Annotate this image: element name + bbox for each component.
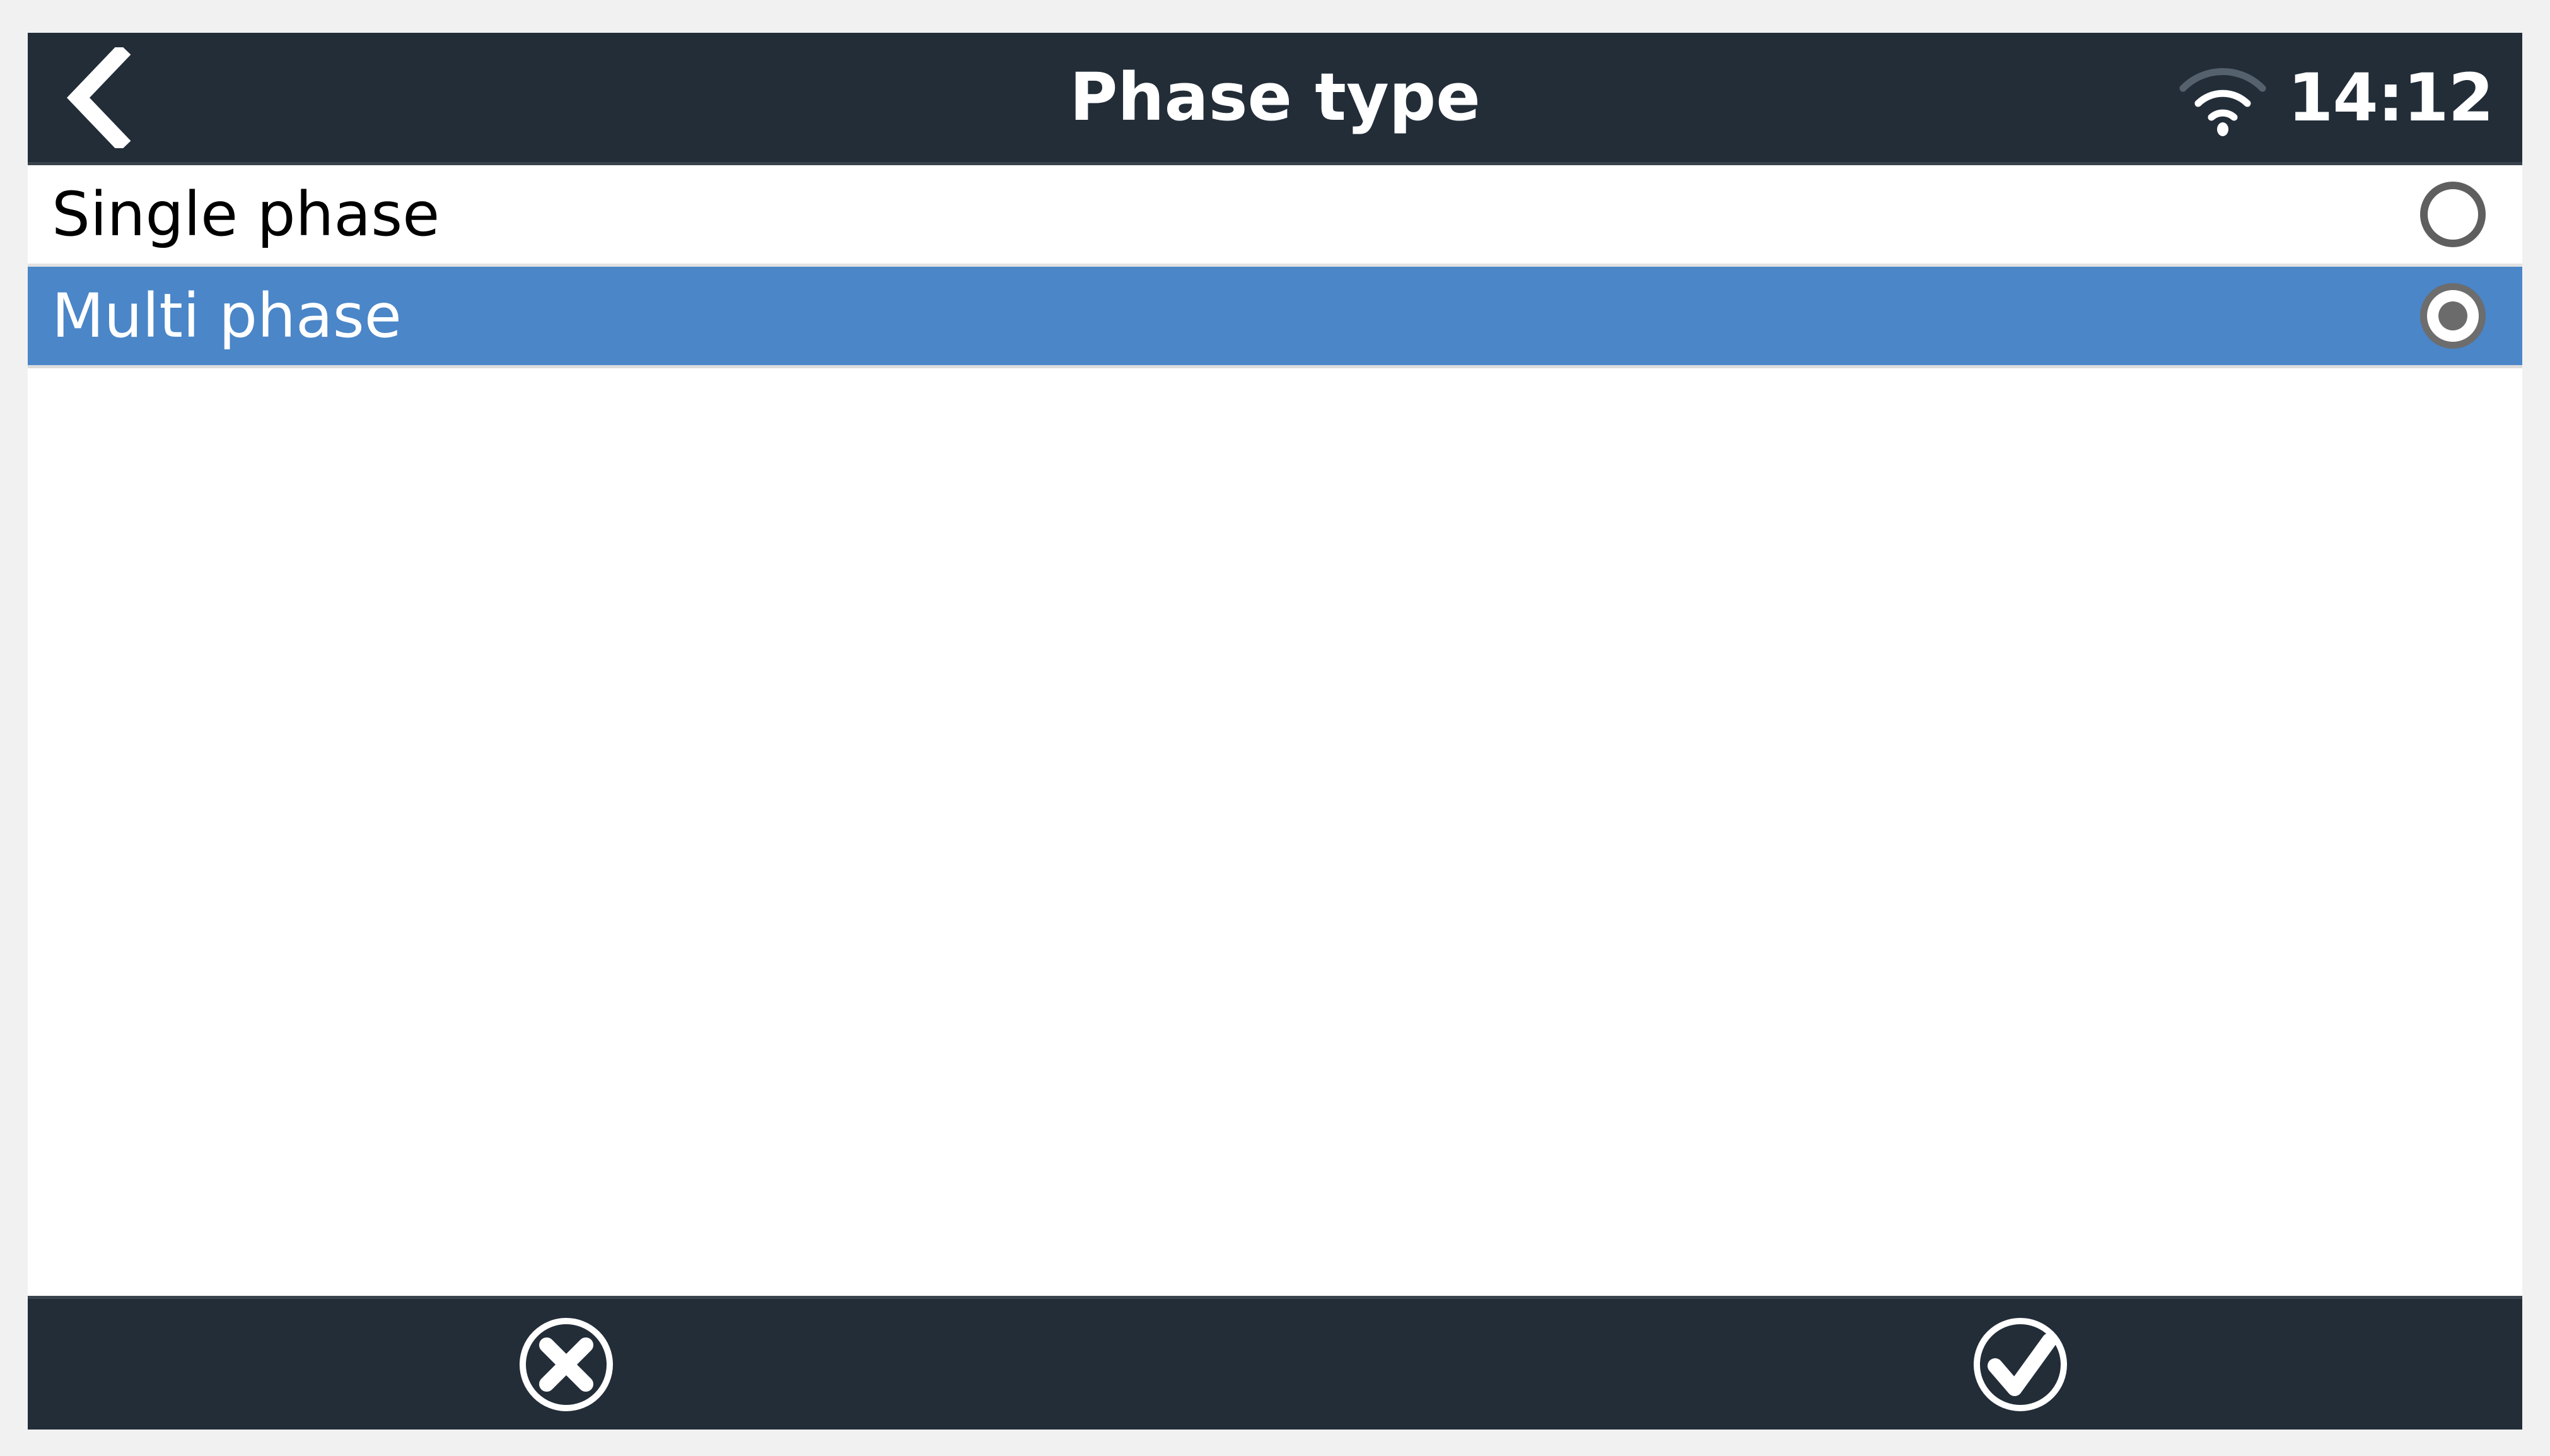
status-cluster: 14:12: [2175, 33, 2493, 162]
radio-dot: [2438, 301, 2467, 330]
options-list: Single phase Multi phase: [28, 165, 2522, 1296]
back-button[interactable]: [28, 33, 173, 162]
chevron-left-icon: [66, 47, 135, 148]
option-label: Single phase: [52, 179, 2420, 250]
circle-check-icon: [1970, 1314, 2071, 1415]
status-clock: 14:12: [2288, 59, 2493, 136]
header-bar: Phase type 14:12: [28, 33, 2522, 165]
circle-x-icon: [516, 1314, 617, 1415]
radio-checked-icon[interactable]: [2420, 283, 2486, 349]
device-screen: Phase type 14:12 Single phase: [0, 0, 2550, 1456]
app-content: Phase type 14:12 Single phase: [28, 33, 2522, 1430]
option-label: Multi phase: [52, 281, 2420, 351]
confirm-button[interactable]: [1926, 1299, 2115, 1430]
device-frame: Phase type 14:12 Single phase: [0, 0, 2550, 1456]
wifi-icon: [2175, 62, 2270, 137]
cancel-button[interactable]: [472, 1299, 661, 1430]
list-item-multi-phase[interactable]: Multi phase: [28, 267, 2522, 368]
bottom-toolbar: [28, 1296, 2522, 1430]
radio-unchecked-icon[interactable]: [2420, 182, 2486, 247]
list-item-single-phase[interactable]: Single phase: [28, 165, 2522, 267]
page-title: Phase type: [28, 33, 2522, 162]
